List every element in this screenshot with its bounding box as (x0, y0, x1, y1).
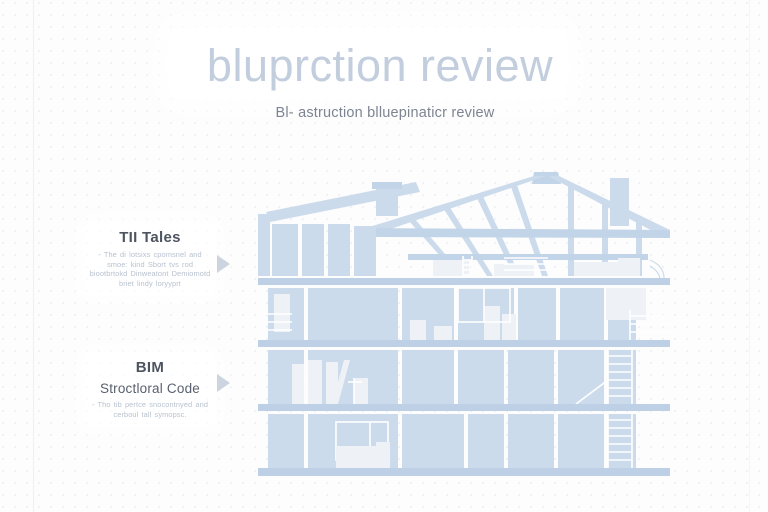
play-triangle-icon[interactable] (217, 255, 230, 273)
building-cross-section-illustration: .bl { fill: #ccdbec; } .bl2 { fill: #c2d… (258, 168, 670, 486)
page-subtitle: Bl- astruction blluepinaticr review (180, 103, 590, 123)
info-card-heading: BIM (86, 358, 214, 377)
info-card-body: - The di lotsixs cpomsnel and smoe: kind… (86, 250, 214, 288)
right-margin-rule (749, 0, 750, 512)
page-title: bluprction review (150, 38, 610, 94)
info-card-subheading: Stroctloral Code (86, 380, 214, 398)
slide-canvas: bluprction review Bl- astruction blluepi… (0, 0, 768, 512)
info-card-bim[interactable]: BIM Stroctloral Code - Tho tib pertce sn… (84, 352, 216, 427)
info-card-til-tales[interactable]: TII Tales - The di lotsixs cpomsnel and … (84, 222, 216, 296)
info-card-body: - Tho tib pertce snocontnyed and cerboul… (86, 400, 214, 419)
play-triangle-icon[interactable] (217, 374, 230, 392)
info-card-heading: TII Tales (86, 228, 214, 247)
left-margin-rule (33, 0, 34, 512)
